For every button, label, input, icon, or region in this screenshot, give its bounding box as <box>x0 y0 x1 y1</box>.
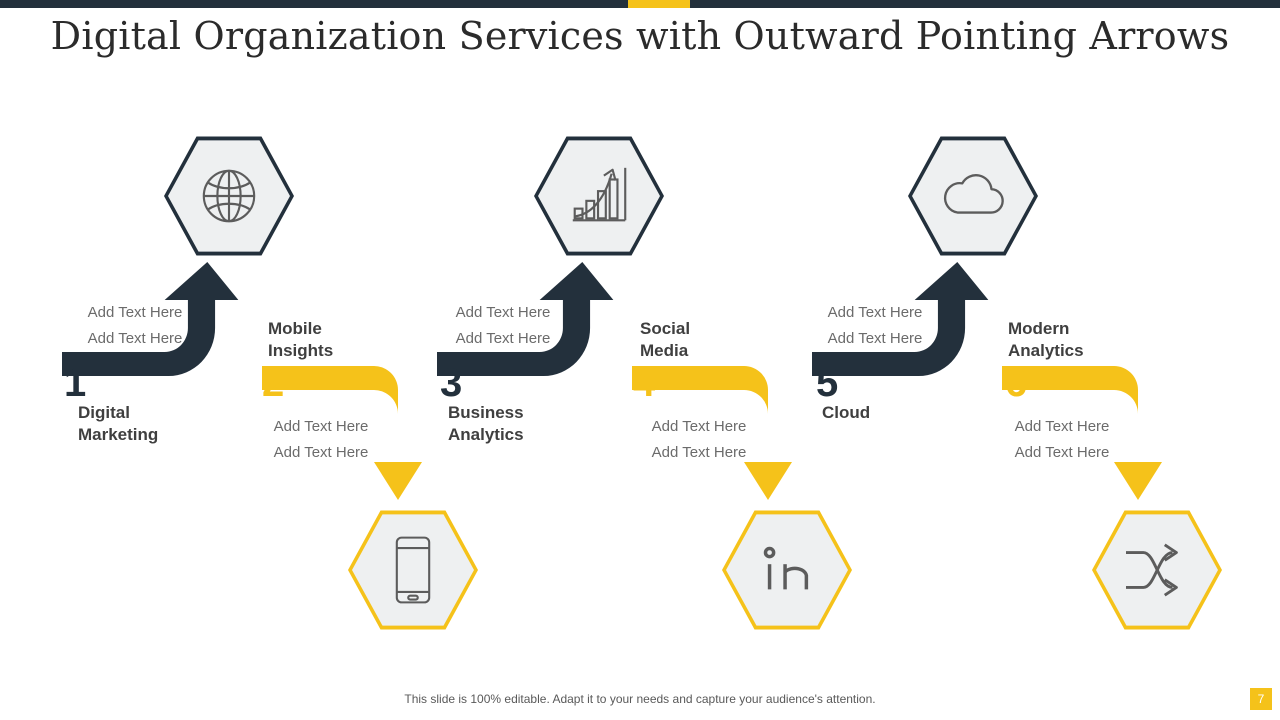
hex-badge-5 <box>908 134 1038 258</box>
page-number-badge: 7 <box>1250 688 1272 710</box>
step-body-2: Add Text Here Add Text Here <box>246 414 396 466</box>
step-number-3: 3 <box>440 363 462 403</box>
globe-icon <box>164 134 294 258</box>
step-heading-6: Modern Analytics <box>1008 318 1178 363</box>
page-title: Digital Organization Services with Outwa… <box>0 14 1280 58</box>
step-body-1: Add Text Here Add Text Here <box>60 300 210 352</box>
step-body-4: Add Text Here Add Text Here <box>624 414 774 466</box>
growth-chart-icon <box>534 134 664 258</box>
smartphone-icon <box>348 508 478 632</box>
cloud-icon <box>908 134 1038 258</box>
top-accent-yellow <box>628 0 690 8</box>
hex-badge-2 <box>348 508 478 632</box>
step-heading-1: Digital Marketing <box>78 402 238 447</box>
hex-badge-1 <box>164 134 294 258</box>
top-accent-bar <box>0 0 1280 8</box>
hex-badge-6 <box>1092 508 1222 632</box>
step-heading-5: Cloud <box>822 402 982 424</box>
top-accent-dark-right <box>690 0 1280 8</box>
step-heading-4: Social Media <box>640 318 800 363</box>
hex-badge-3 <box>534 134 664 258</box>
top-accent-dark-left <box>0 0 640 8</box>
step-body-5: Add Text Here Add Text Here <box>800 300 950 352</box>
footer-note: This slide is 100% editable. Adapt it to… <box>0 692 1280 706</box>
hex-badge-4 <box>722 508 852 632</box>
shuffle-arrows-icon <box>1092 508 1222 632</box>
step-number-1: 1 <box>64 363 86 403</box>
step-number-5: 5 <box>816 363 838 403</box>
step-number-4: 4 <box>633 363 655 403</box>
linkedin-icon <box>722 508 852 632</box>
step-number-2: 2 <box>262 363 284 403</box>
step-body-3: Add Text Here Add Text Here <box>428 300 578 352</box>
step-number-6: 6 <box>1005 363 1027 403</box>
step-heading-3: Business Analytics <box>448 402 618 447</box>
step-heading-2: Mobile Insights <box>268 318 428 363</box>
step-body-6: Add Text Here Add Text Here <box>987 414 1137 466</box>
